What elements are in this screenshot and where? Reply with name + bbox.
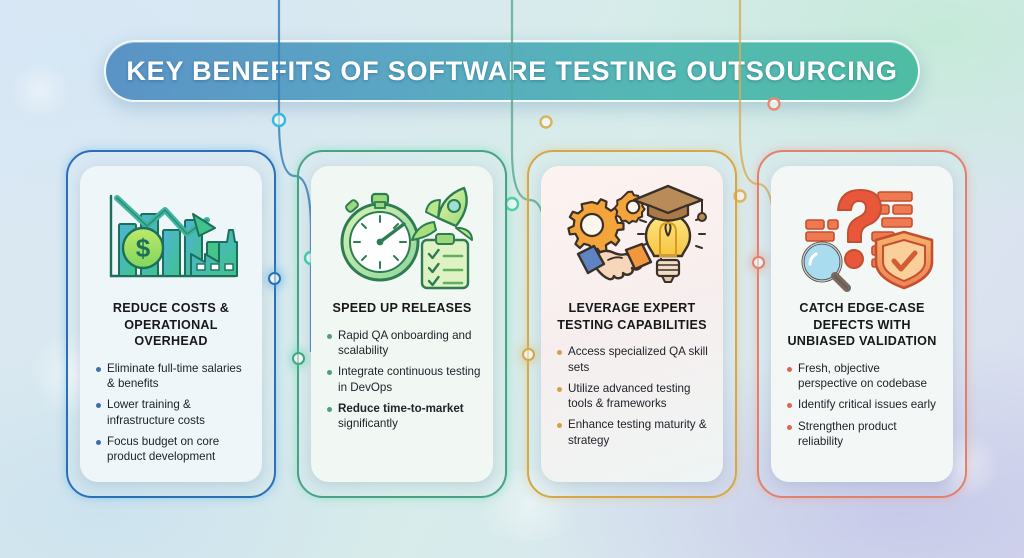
bullet-text: Rapid QA onboarding and scalability	[338, 328, 481, 359]
bullet-dot	[327, 334, 332, 339]
card-bullets: Rapid QA onboarding and scalability Inte…	[323, 328, 481, 438]
bullet-text: Utilize advanced testing tools & framewo…	[568, 381, 711, 412]
list-item: Focus budget on core product development	[96, 434, 250, 465]
bullet-text: Eliminate full-time salaries & benefits	[107, 361, 250, 392]
stopwatch-rocket-checklist-icon	[326, 180, 478, 292]
card-title: REDUCE COSTS & OPERATIONAL OVERHEAD	[92, 300, 250, 350]
benefit-cards: $ REDUCE COSTS & OPERATIONAL OVERHEAD El…	[0, 150, 1024, 502]
card-bullets: Eliminate full-time salaries & benefits …	[92, 361, 250, 471]
list-item: Reduce time-to-market significantly	[327, 401, 481, 432]
bullet-dot	[557, 387, 562, 392]
bullet-dot	[787, 367, 792, 372]
bullet-text: Reduce time-to-market significantly	[338, 401, 481, 432]
glow-node	[268, 272, 281, 285]
benefit-card-leverage-expert-testing[interactable]: LEVERAGE EXPERT TESTING CAPABILITIES Acc…	[527, 150, 737, 498]
infographic-stage: KEY BENEFITS OF SOFTWARE TESTING OUTSOUR…	[0, 0, 1024, 558]
svg-text:$: $	[136, 233, 151, 263]
card-title: LEVERAGE EXPERT TESTING CAPABILITIES	[553, 300, 711, 333]
bullet-dot	[787, 403, 792, 408]
benefit-card-reduce-costs[interactable]: $ REDUCE COSTS & OPERATIONAL OVERHEAD El…	[66, 150, 276, 498]
glow-node	[292, 352, 305, 365]
declining-bar-chart-dollar-factory-icon: $	[95, 180, 247, 292]
list-item: Enhance testing maturity & strategy	[557, 417, 711, 448]
list-item: Identify critical issues early	[787, 397, 941, 412]
bullet-text: Enhance testing maturity & strategy	[568, 417, 711, 448]
card-inner: CATCH EDGE-CASE DEFECTS WITH UNBIASED VA…	[771, 166, 953, 482]
bullet-text: Strengthen product reliability	[798, 419, 941, 450]
bullet-dot	[96, 440, 101, 445]
list-item: Rapid QA onboarding and scalability	[327, 328, 481, 359]
card-inner: $ REDUCE COSTS & OPERATIONAL OVERHEAD El…	[80, 166, 262, 482]
list-item: Lower training & infrastructure costs	[96, 397, 250, 428]
bullet-text: Identify critical issues early	[798, 397, 936, 412]
benefit-card-catch-edge-case-defects[interactable]: CATCH EDGE-CASE DEFECTS WITH UNBIASED VA…	[757, 150, 967, 498]
list-item: Eliminate full-time salaries & benefits	[96, 361, 250, 392]
bullet-dot	[557, 350, 562, 355]
list-item: Access specialized QA skill sets	[557, 344, 711, 375]
list-item: Fresh, objective perspective on codebase	[787, 361, 941, 392]
list-item: Integrate continuous testing in DevOps	[327, 364, 481, 395]
bullet-dot	[327, 370, 332, 375]
glow-node	[522, 348, 535, 361]
card-title: CATCH EDGE-CASE DEFECTS WITH UNBIASED VA…	[783, 300, 941, 350]
card-title: SPEED UP RELEASES	[332, 300, 471, 317]
bullet-text: Access specialized QA skill sets	[568, 344, 711, 375]
card-bullets: Access specialized QA skill sets Utilize…	[553, 344, 711, 454]
bullet-dot	[96, 403, 101, 408]
page-title: KEY BENEFITS OF SOFTWARE TESTING OUTSOUR…	[126, 56, 897, 87]
bullet-dot	[787, 425, 792, 430]
bokeh-sparkle	[10, 60, 70, 120]
bullet-text: Fresh, objective perspective on codebase	[798, 361, 941, 392]
bullet-text: Lower training & infrastructure costs	[107, 397, 250, 428]
gears-graduation-cap-lightbulb-handshake-icon	[556, 180, 708, 292]
title-banner: KEY BENEFITS OF SOFTWARE TESTING OUTSOUR…	[104, 40, 920, 102]
card-inner: SPEED UP RELEASES Rapid QA onboarding an…	[311, 166, 493, 482]
bullet-text: Integrate continuous testing in DevOps	[338, 364, 481, 395]
bullet-text: Focus budget on core product development	[107, 434, 250, 465]
bullet-dot	[96, 367, 101, 372]
bullet-dot	[327, 407, 332, 412]
card-inner: LEVERAGE EXPERT TESTING CAPABILITIES Acc…	[541, 166, 723, 482]
glow-node	[752, 256, 765, 269]
question-mark-magnifier-shield-icon	[786, 180, 938, 292]
bullet-dot	[557, 423, 562, 428]
card-bullets: Fresh, objective perspective on codebase…	[783, 361, 941, 455]
list-item: Utilize advanced testing tools & framewo…	[557, 381, 711, 412]
list-item: Strengthen product reliability	[787, 419, 941, 450]
title-pill: KEY BENEFITS OF SOFTWARE TESTING OUTSOUR…	[104, 40, 920, 102]
benefit-card-speed-up-releases[interactable]: SPEED UP RELEASES Rapid QA onboarding an…	[297, 150, 507, 498]
